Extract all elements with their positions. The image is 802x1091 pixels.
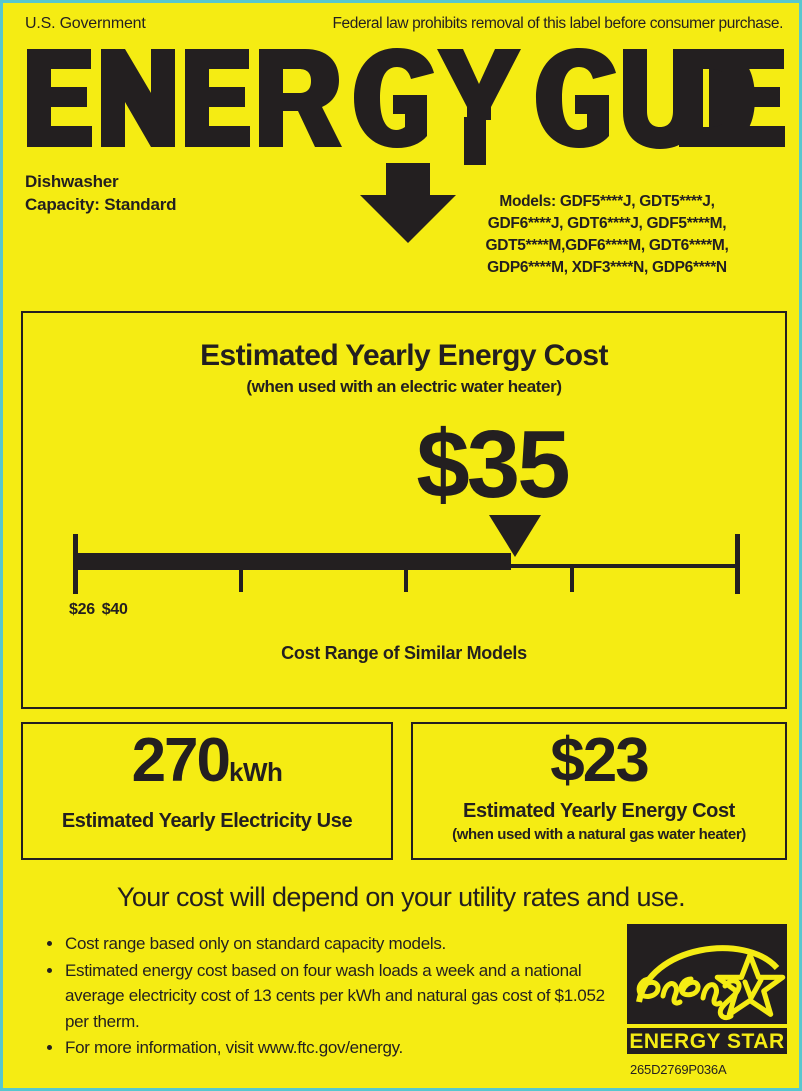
list-item: Cost range based only on standard capaci… bbox=[41, 931, 621, 957]
gas-cost-box: $23 Estimated Yearly Energy Cost (when u… bbox=[411, 722, 787, 860]
footnotes-list: Cost range based only on standard capaci… bbox=[41, 931, 621, 1062]
cost-range-caption: Cost Range of Similar Models bbox=[23, 643, 785, 664]
appliance-capacity: Capacity: Standard bbox=[25, 194, 176, 217]
cost-range-min-label: $26 bbox=[69, 601, 95, 618]
gas-cost-value-row: $23 bbox=[413, 730, 785, 792]
us-government-text: U.S. Government bbox=[25, 15, 146, 33]
cost-range-scale bbox=[23, 509, 785, 639]
electricity-use-value: 270 bbox=[132, 726, 229, 795]
estimated-cost-amount: $35 bbox=[416, 417, 567, 513]
energyguide-wordmark bbox=[23, 47, 785, 152]
electricity-use-unit: kWh bbox=[229, 757, 282, 787]
energy-star-logo: ENERGY STAR bbox=[627, 924, 787, 1054]
cost-range-max-label: $40 bbox=[102, 601, 128, 618]
gas-cost-value: $23 bbox=[550, 726, 647, 795]
label-face: U.S. Government Federal law prohibits re… bbox=[3, 3, 799, 1088]
gas-cost-sublabel: (when used with a natural gas water heat… bbox=[413, 826, 785, 843]
federal-law-notice: Federal law prohibits removal of this la… bbox=[332, 15, 783, 33]
part-number: 265D2769P036A bbox=[630, 1062, 726, 1077]
energy-star-bar-text: ENERGY STAR bbox=[629, 1030, 784, 1053]
electricity-use-box: 270kWh Estimated Yearly Electricity Use bbox=[21, 722, 393, 860]
electricity-use-label: Estimated Yearly Electricity Use bbox=[23, 810, 391, 833]
model-line: GDP6****M, XDF3****N, GDP6****N bbox=[437, 257, 777, 279]
gas-cost-label: Estimated Yearly Energy Cost bbox=[413, 800, 785, 823]
appliance-info: Dishwasher Capacity: Standard bbox=[25, 171, 176, 217]
header-row: U.S. Government Federal law prohibits re… bbox=[25, 15, 783, 37]
energyguide-label: U.S. Government Federal law prohibits re… bbox=[0, 0, 802, 1091]
model-numbers: Models: GDF5****J, GDT5****J, GDF6****J,… bbox=[437, 191, 777, 279]
appliance-type: Dishwasher bbox=[25, 171, 176, 194]
electricity-use-value-row: 270kWh bbox=[23, 730, 391, 792]
list-item: For more information, visit www.ftc.gov/… bbox=[41, 1035, 621, 1061]
model-line: Models: GDF5****J, GDT5****J, bbox=[437, 191, 777, 213]
cost-disclaimer-headline: Your cost will depend on your utility ra… bbox=[3, 882, 799, 913]
list-item: Estimated energy cost based on four wash… bbox=[41, 958, 621, 1035]
cost-marker-icon bbox=[489, 515, 541, 557]
estimated-cost-amount-row: $35 bbox=[23, 417, 785, 513]
estimated-cost-subtitle: (when used with an electric water heater… bbox=[23, 377, 785, 397]
estimated-cost-title: Estimated Yearly Energy Cost bbox=[23, 339, 785, 373]
model-line: GDF6****J, GDT6****J, GDF5****M, bbox=[437, 213, 777, 235]
estimated-yearly-cost-box: Estimated Yearly Energy Cost (when used … bbox=[21, 311, 787, 709]
model-line: GDT5****M,GDF6****M, GDT6****M, bbox=[437, 235, 777, 257]
cost-range-endpoint-labels: $26$40 bbox=[69, 601, 135, 619]
